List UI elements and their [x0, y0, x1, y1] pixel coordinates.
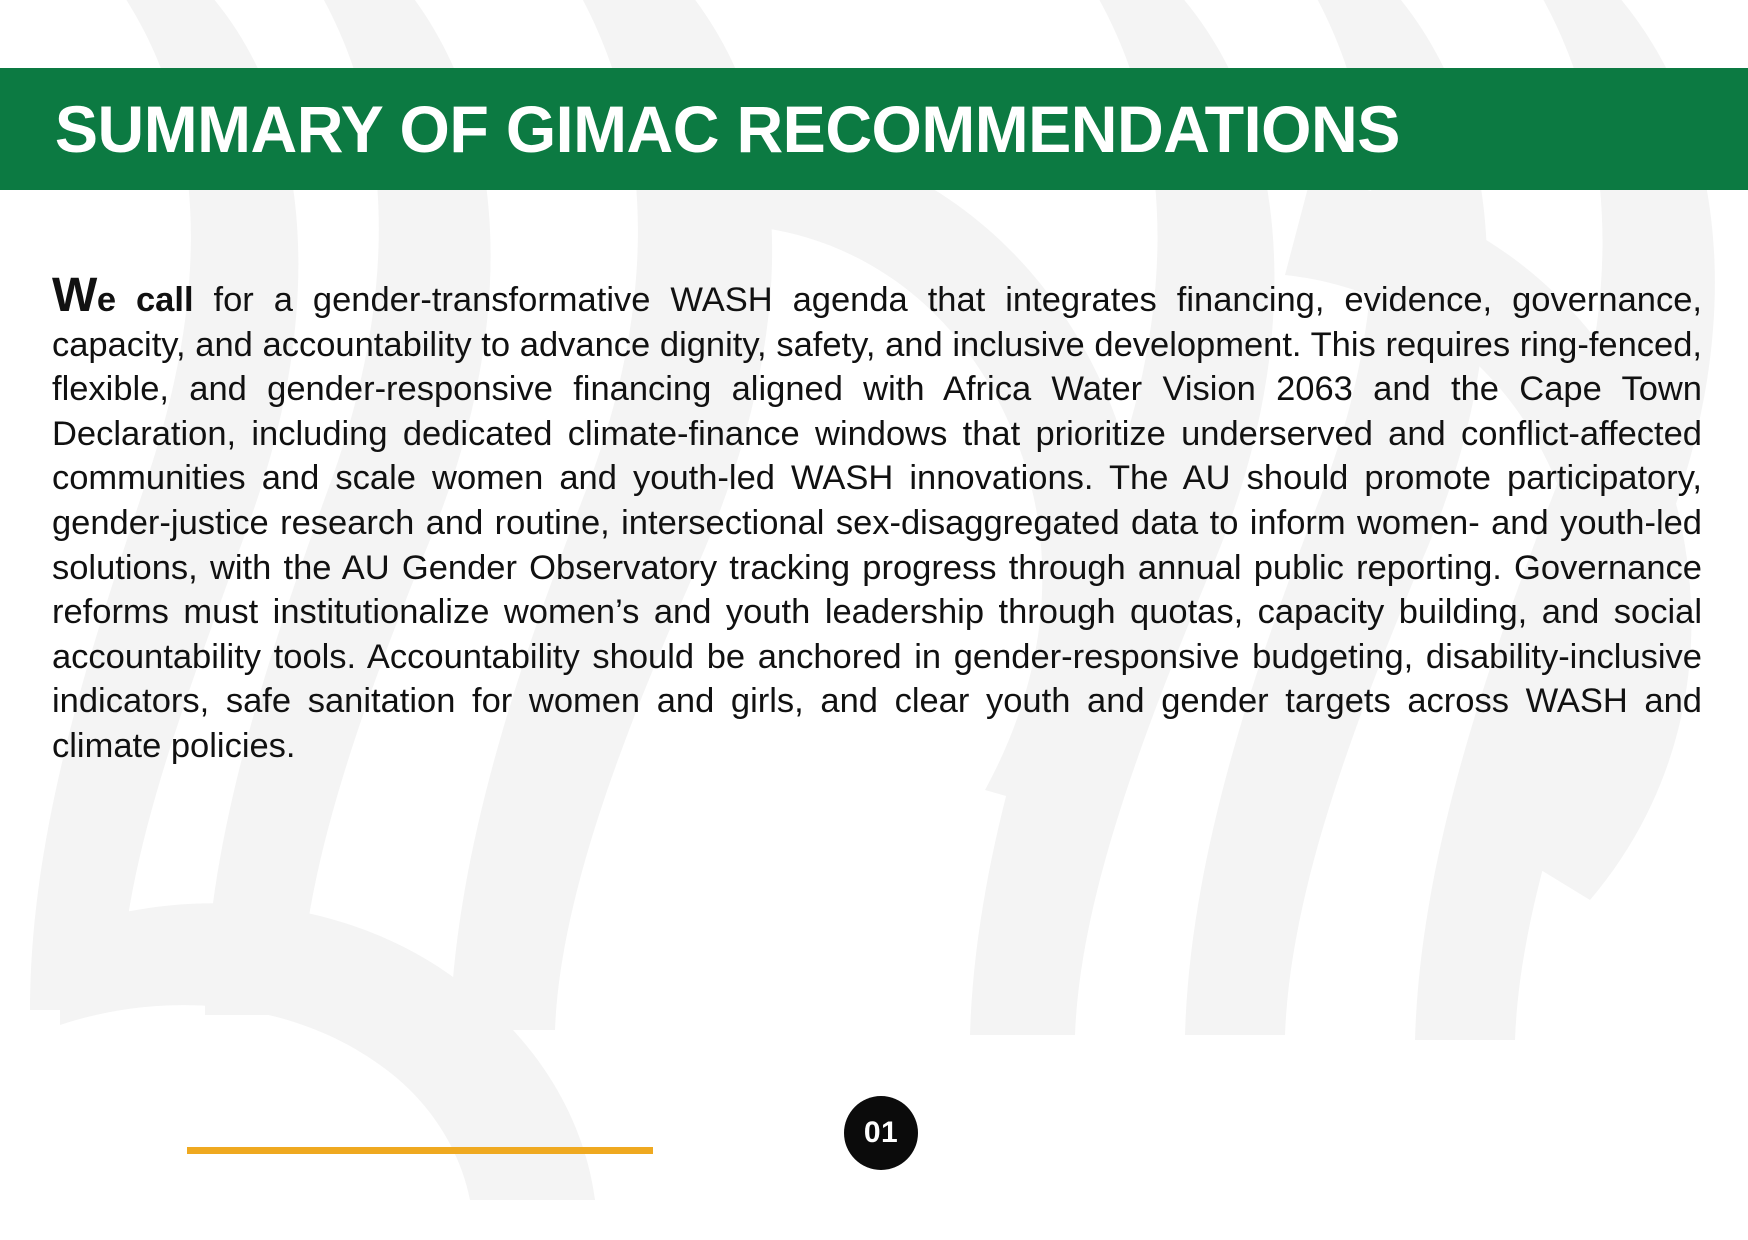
page-number-badge: 01	[844, 1096, 918, 1170]
paragraph-body-text: for a gender-transformative WASH agenda …	[52, 281, 1702, 765]
footer-accent-rule	[187, 1147, 653, 1154]
paragraph-dropcap: W	[52, 269, 97, 322]
page-title: SUMMARY OF GIMAC RECOMMENDATIONS	[0, 96, 1400, 162]
recommendation-paragraph: We call for a gender-transformative WASH…	[52, 278, 1702, 769]
body-content: We call for a gender-transformative WASH…	[52, 278, 1702, 769]
slide-header-band: SUMMARY OF GIMAC RECOMMENDATIONS	[0, 68, 1748, 190]
slide-canvas: SUMMARY OF GIMAC RECOMMENDATIONS We call…	[0, 0, 1748, 1240]
paragraph-lead-bold: e call	[97, 281, 194, 319]
page-number-label: 01	[864, 1118, 898, 1148]
